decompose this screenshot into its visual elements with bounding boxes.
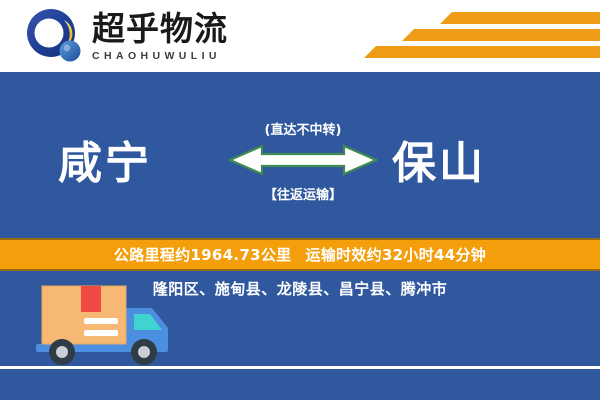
distance-text: 公路里程约1964.73公里 xyxy=(114,246,292,264)
brand-name-cn: 超乎物流 xyxy=(92,12,228,47)
destination-city: 保山 xyxy=(392,142,486,186)
origin-city: 咸宁 xyxy=(58,142,152,186)
stripe-3 xyxy=(364,46,600,58)
route-arrow-group: (直达不中转) 【往返运输】 xyxy=(228,124,378,202)
brand-text-block: 超乎物流 CHAOHUWULIU xyxy=(92,12,228,62)
stripe-1 xyxy=(440,12,600,24)
brand-logo: 超乎物流 CHAOHUWULIU xyxy=(24,6,228,68)
stripe-2 xyxy=(402,29,600,41)
circle-crescent-logo-icon xyxy=(24,6,86,68)
logistics-route-banner: 超乎物流 CHAOHUWULIU 咸宁 (直达不中转) 【往返运输】 xyxy=(0,0,600,400)
duration-text: 运输时效约32小时44分钟 xyxy=(305,246,486,264)
orange-diagonal-stripes-icon xyxy=(350,12,600,64)
double-headed-arrow-icon xyxy=(228,143,378,182)
districts-text: 隆阳区、施甸县、龙陵县、昌宁县、腾冲市 xyxy=(153,280,448,298)
brand-name-en: CHAOHUWULIU xyxy=(92,50,228,62)
route-info-bar: 公路里程约1964.73公里运输时效约32小时44分钟 xyxy=(0,238,600,271)
direct-shipping-note: (直达不中转) xyxy=(228,124,378,137)
main-blue-panel: 咸宁 (直达不中转) 【往返运输】 保山 公路里程约1964.73公里运输时效约… xyxy=(0,72,600,400)
route-row: 咸宁 (直达不中转) 【往返运输】 保山 xyxy=(0,104,600,244)
banner-header: 超乎物流 CHAOHUWULIU xyxy=(0,0,600,72)
round-trip-note: 【往返运输】 xyxy=(228,189,378,202)
delivery-truck-icon xyxy=(22,274,182,370)
bottom-separator-rule xyxy=(0,366,600,369)
info-bar-text: 公路里程约1964.73公里运输时效约32小时44分钟 xyxy=(114,244,486,265)
